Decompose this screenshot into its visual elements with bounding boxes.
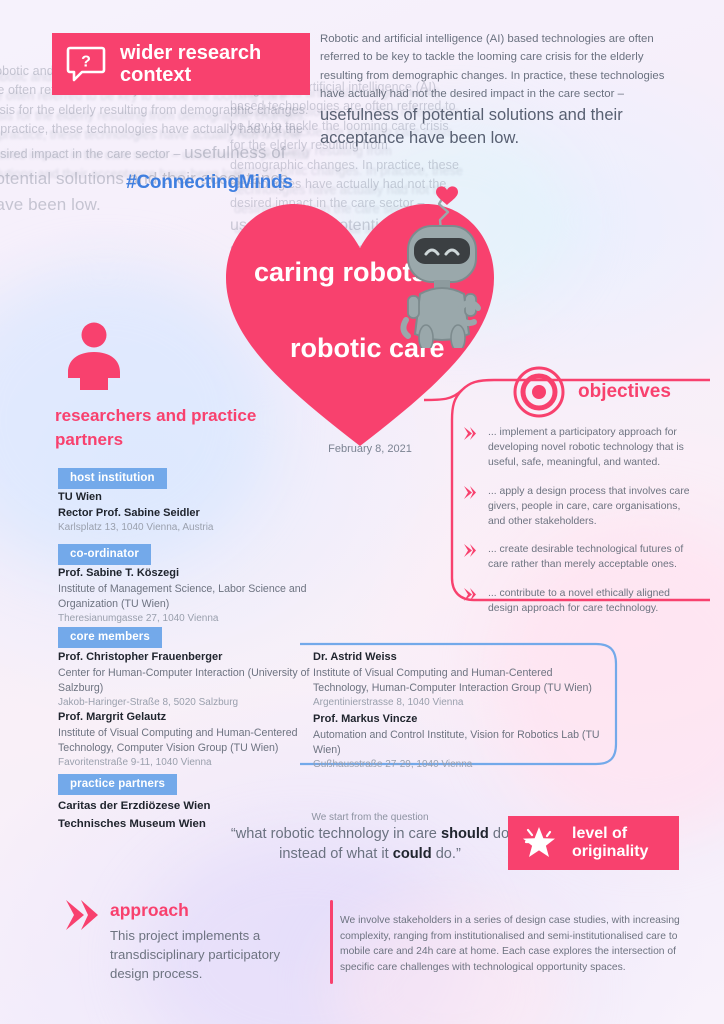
entry-address: Favoritenstraße 9-11, 1040 Vienna xyxy=(58,756,326,770)
banner-title: level of originality xyxy=(572,825,667,861)
objective-item: ... contribute to a novel ethically alig… xyxy=(462,586,697,616)
quote-part-1: “what robotic technology in care xyxy=(231,826,441,842)
entry-name: Prof. Christopher Frauenberger xyxy=(58,650,316,666)
practice-partner-item: Caritas der Erzdiözese Wien xyxy=(58,800,210,812)
guiding-question-quote: We start from the question “what robotic… xyxy=(230,812,510,865)
quote-bold-could: could xyxy=(393,846,432,862)
entry-address: Gußhausstraße 27-29, 1040 Vienna xyxy=(313,758,603,772)
objective-text: ... apply a design process that involves… xyxy=(488,484,697,530)
chevron-right-icon xyxy=(462,543,477,558)
poster-date: February 8, 2021 xyxy=(310,443,430,455)
entry-address: Jakob-Haringer-Straße 8, 5020 Salzburg xyxy=(58,696,316,710)
entry-name: TU Wien xyxy=(58,490,308,506)
objective-text: ... contribute to a novel ethically alig… xyxy=(488,586,697,616)
entry-org: Institute of Visual Computing and Human-… xyxy=(58,726,326,756)
quote-bold-should: should xyxy=(441,826,489,842)
banner-title: wider research context xyxy=(120,42,296,87)
chip-core-members: core members xyxy=(58,627,162,648)
person-icon xyxy=(66,322,122,390)
approach-section-title: approach xyxy=(110,900,189,921)
entry-org: Center for Human-Computer Interaction (U… xyxy=(58,666,316,696)
level-of-originality-banner: level of originality xyxy=(508,816,679,870)
infographic-poster: Robotic and artificial intelligence (AI)… xyxy=(0,0,724,1024)
approach-divider xyxy=(330,900,333,984)
star-icon xyxy=(520,824,558,862)
chip-co-ordinator: co-ordinator xyxy=(58,544,151,565)
objectives-list: ... implement a participatory approach f… xyxy=(462,425,697,629)
approach-body-text: This project implements a transdisciplin… xyxy=(110,926,310,983)
intro-body: Robotic and artificial intelligence (AI)… xyxy=(320,33,664,100)
entry-person: Rector Prof. Sabine Seidler xyxy=(58,506,308,522)
target-icon xyxy=(513,366,565,418)
core-member-entry: Prof. Markus Vincze Automation and Contr… xyxy=(313,712,603,772)
chevron-right-icon xyxy=(462,587,477,602)
objective-text: ... create desirable technological futur… xyxy=(488,542,697,572)
hashtag-label: #ConnectingMinds xyxy=(126,172,293,194)
wider-research-context-banner: ? wider research context xyxy=(52,33,310,95)
chip-practice-partners: practice partners xyxy=(58,774,177,795)
host-institution-entry: TU Wien Rector Prof. Sabine Seidler Karl… xyxy=(58,490,308,535)
entry-name: Dr. Astrid Weiss xyxy=(313,650,603,666)
entry-address: Karlsplatz 13, 1040 Vienna, Austria xyxy=(58,521,308,535)
quote-lead: We start from the question xyxy=(230,812,510,823)
chip-host-institution: host institution xyxy=(58,468,167,489)
coordinator-entry: Prof. Sabine T. Köszegi Institute of Man… xyxy=(58,566,308,626)
quote-part-3: do.” xyxy=(432,846,461,862)
core-member-entry: Dr. Astrid Weiss Institute of Visual Com… xyxy=(313,650,603,710)
entry-org: Institute of Visual Computing and Human-… xyxy=(313,666,603,696)
entry-address: Argentinierstrasse 8, 1040 Vienna xyxy=(313,696,603,710)
objective-item: ... implement a participatory approach f… xyxy=(462,425,697,471)
entry-name: Prof. Margrit Gelautz xyxy=(58,710,326,726)
objectives-section-title: objectives xyxy=(578,381,671,403)
chevron-right-icon xyxy=(462,426,477,441)
researchers-section-title: researchers and practice partners xyxy=(55,404,265,452)
robot-illustration xyxy=(390,168,494,348)
chevron-right-icon xyxy=(462,485,477,500)
approach-note-text: We involve stakeholders in a series of d… xyxy=(340,913,688,976)
svg-text:?: ? xyxy=(81,54,91,71)
core-member-entry: Prof. Margrit Gelautz Institute of Visua… xyxy=(58,710,326,770)
quote-text: “what robotic technology in care should … xyxy=(230,825,510,865)
entry-name: Prof. Sabine T. Köszegi xyxy=(58,566,308,582)
entry-org: Institute of Management Science, Labor S… xyxy=(58,582,308,612)
intro-emphasis: usefulness of potential solutions and th… xyxy=(320,106,623,147)
objective-text: ... implement a participatory approach f… xyxy=(488,425,697,471)
entry-address: Theresianumgasse 27, 1040 Vienna xyxy=(58,612,308,626)
objective-item: ... create desirable technological futur… xyxy=(462,542,697,572)
objective-item: ... apply a design process that involves… xyxy=(462,484,697,530)
core-member-entry: Prof. Christopher Frauenberger Center fo… xyxy=(58,650,316,710)
chevron-right-icon xyxy=(64,898,100,932)
speech-bubble-question-icon: ? xyxy=(66,46,106,82)
entry-name: Prof. Markus Vincze xyxy=(313,712,603,728)
intro-paragraph: Robotic and artificial intelligence (AI)… xyxy=(320,30,672,151)
entry-org: Automation and Control Institute, Vision… xyxy=(313,728,603,758)
practice-partner-item: Technisches Museum Wien xyxy=(58,818,206,830)
